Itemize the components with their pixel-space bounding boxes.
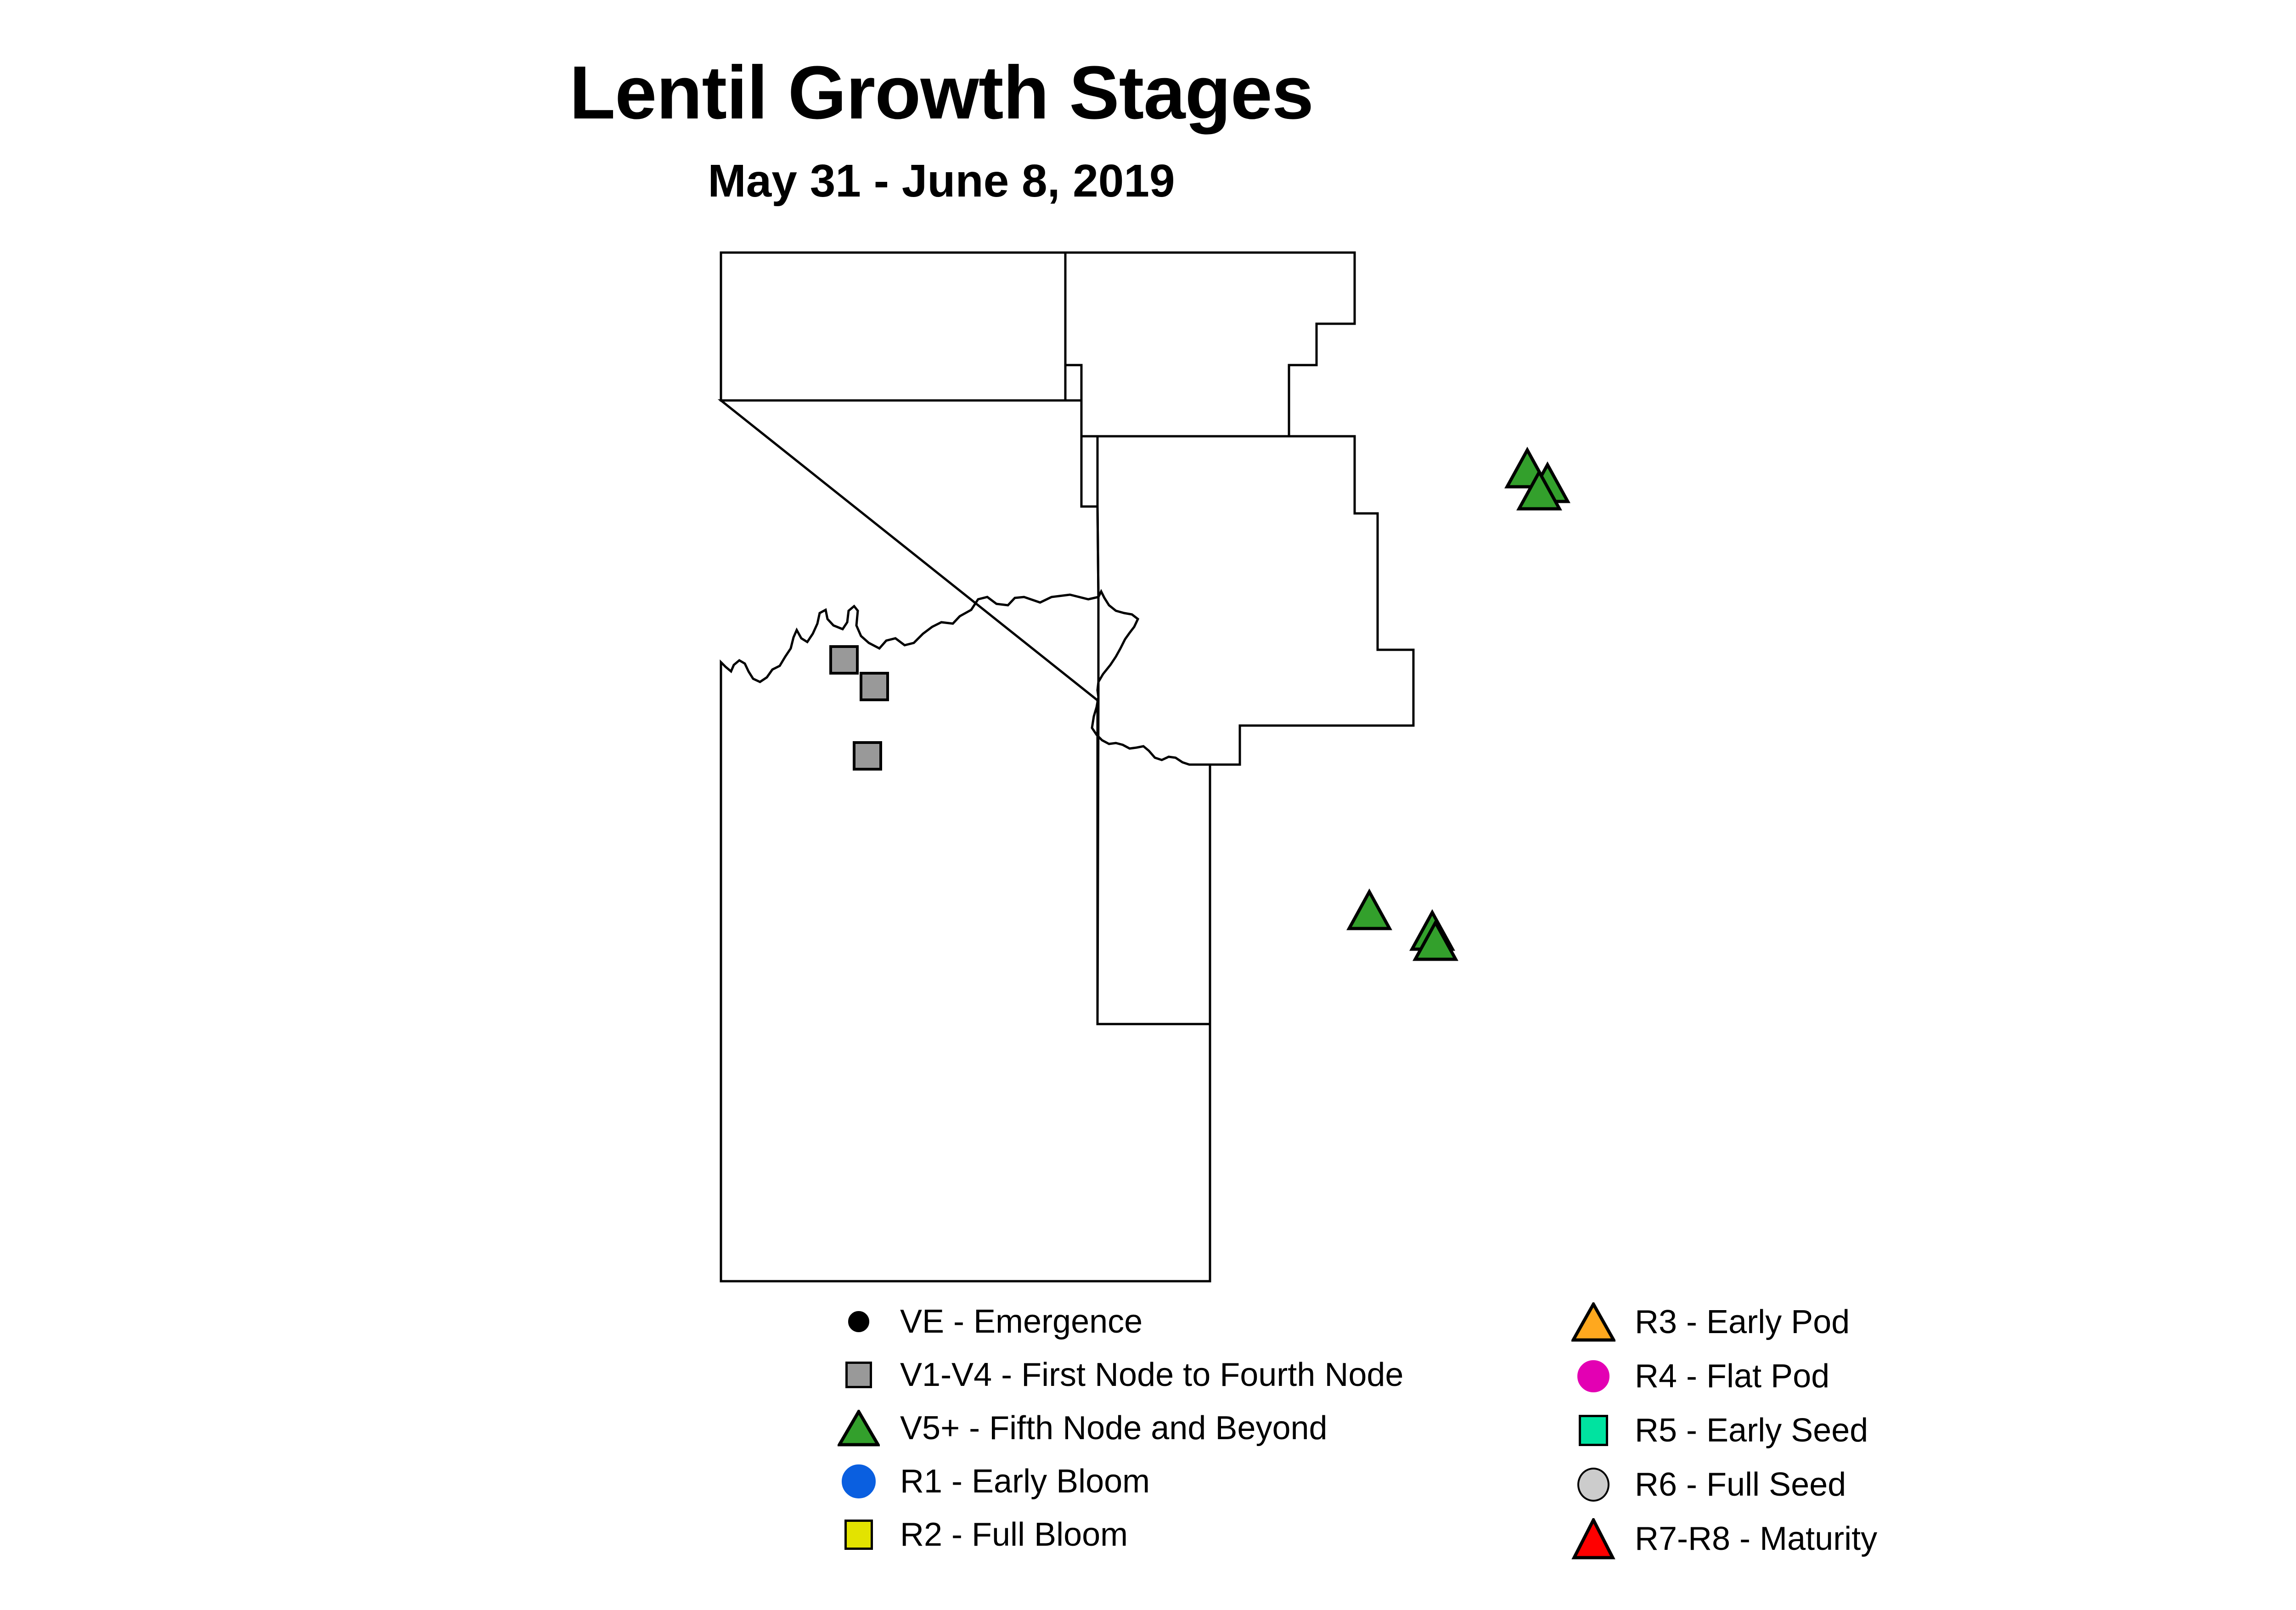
legend-label-r6: R6 - Full Seed	[1635, 1468, 1846, 1501]
map-boundaries	[721, 253, 1413, 1281]
page-root: Lentil Growth Stages May 31 - June 8, 20…	[0, 0, 2296, 1610]
yellow-square-icon	[844, 1520, 873, 1550]
legend-swatch-cell	[1552, 1295, 1635, 1349]
legend-label-r1: R1 - Early Bloom	[900, 1465, 1150, 1498]
page-title: Lentil Growth Stages	[0, 55, 1883, 130]
legend-label-r4: R4 - Flat Pod	[1635, 1360, 1829, 1393]
orange-triangle-icon	[1571, 1302, 1615, 1342]
legend-item-r7r8[interactable]: R7-R8 - Maturity	[1552, 1512, 1877, 1566]
marker-v1v4-square[interactable]	[831, 647, 857, 673]
boundary-northwest-county	[721, 253, 1065, 400]
gray-circle-icon	[1577, 1468, 1609, 1502]
legend-label-r5: R5 - Early Seed	[1635, 1414, 1868, 1447]
legend-label-v5plus: V5+ - Fifth Node and Beyond	[900, 1412, 1328, 1445]
legend: VE - Emergence V1-V4 - First Node to Fou…	[817, 1295, 2057, 1571]
legend-label-ve: VE - Emergence	[900, 1305, 1142, 1338]
legend-swatch-cell	[1552, 1512, 1635, 1565]
magenta-circle-icon	[1577, 1360, 1609, 1392]
blue-circle-icon	[842, 1464, 876, 1498]
legend-item-r5[interactable]: R5 - Early Seed	[1552, 1403, 1877, 1458]
legend-swatch-cell	[817, 1348, 900, 1402]
legend-item-r3[interactable]: R3 - Early Pod	[1552, 1295, 1877, 1349]
boundary-northeast-county	[1065, 253, 1355, 436]
black-circle-icon	[848, 1311, 869, 1332]
legend-item-v5plus[interactable]: V5+ - Fifth Node and Beyond	[817, 1402, 1403, 1455]
legend-item-r1[interactable]: R1 - Early Bloom	[817, 1455, 1403, 1508]
legend-column-left: VE - Emergence V1-V4 - First Node to Fou…	[817, 1295, 1403, 1561]
legend-item-r6[interactable]: R6 - Full Seed	[1552, 1458, 1877, 1512]
boundary-east-county	[1081, 436, 1413, 765]
legend-label-r7r8: R7-R8 - Maturity	[1635, 1522, 1877, 1555]
boundary-southeast-lobe	[1097, 597, 1240, 1024]
county-map-svg[interactable]	[703, 230, 2103, 1300]
legend-item-r2[interactable]: R2 - Full Bloom	[817, 1508, 1403, 1561]
page-subtitle: May 31 - June 8, 2019	[0, 158, 1883, 204]
gray-square-icon	[845, 1362, 872, 1388]
red-triangle-icon	[1571, 1518, 1615, 1559]
marker-v1v4-square[interactable]	[854, 743, 881, 769]
data-markers-layer[interactable]	[831, 450, 1568, 959]
teal-square-icon	[1579, 1415, 1608, 1446]
legend-swatch-cell	[817, 1295, 900, 1348]
map-container[interactable]	[703, 230, 2103, 1300]
legend-item-ve[interactable]: VE - Emergence	[817, 1295, 1403, 1348]
legend-swatch-cell	[817, 1455, 900, 1508]
legend-column-right: R3 - Early Pod R4 - Flat Pod R5 - Early …	[1552, 1295, 1877, 1566]
legend-item-v1v4[interactable]: V1-V4 - First Node to Fourth Node	[817, 1348, 1403, 1402]
legend-swatch-cell	[1552, 1404, 1635, 1457]
boundary-west-county	[721, 400, 1210, 1281]
legend-item-r4[interactable]: R4 - Flat Pod	[1552, 1349, 1877, 1403]
legend-swatch-cell	[817, 1508, 900, 1561]
green-triangle-icon	[838, 1410, 880, 1447]
title-block: Lentil Growth Stages May 31 - June 8, 20…	[0, 55, 1883, 204]
legend-label-r3: R3 - Early Pod	[1635, 1306, 1850, 1339]
legend-swatch-cell	[817, 1402, 900, 1455]
legend-label-r2: R2 - Full Bloom	[900, 1518, 1128, 1551]
legend-label-v1v4: V1-V4 - First Node to Fourth Node	[900, 1358, 1403, 1391]
legend-swatch-cell	[1552, 1458, 1635, 1511]
marker-v1v4-square[interactable]	[861, 673, 888, 700]
legend-swatch-cell	[1552, 1350, 1635, 1403]
marker-v5plus-triangle[interactable]	[1349, 892, 1390, 929]
